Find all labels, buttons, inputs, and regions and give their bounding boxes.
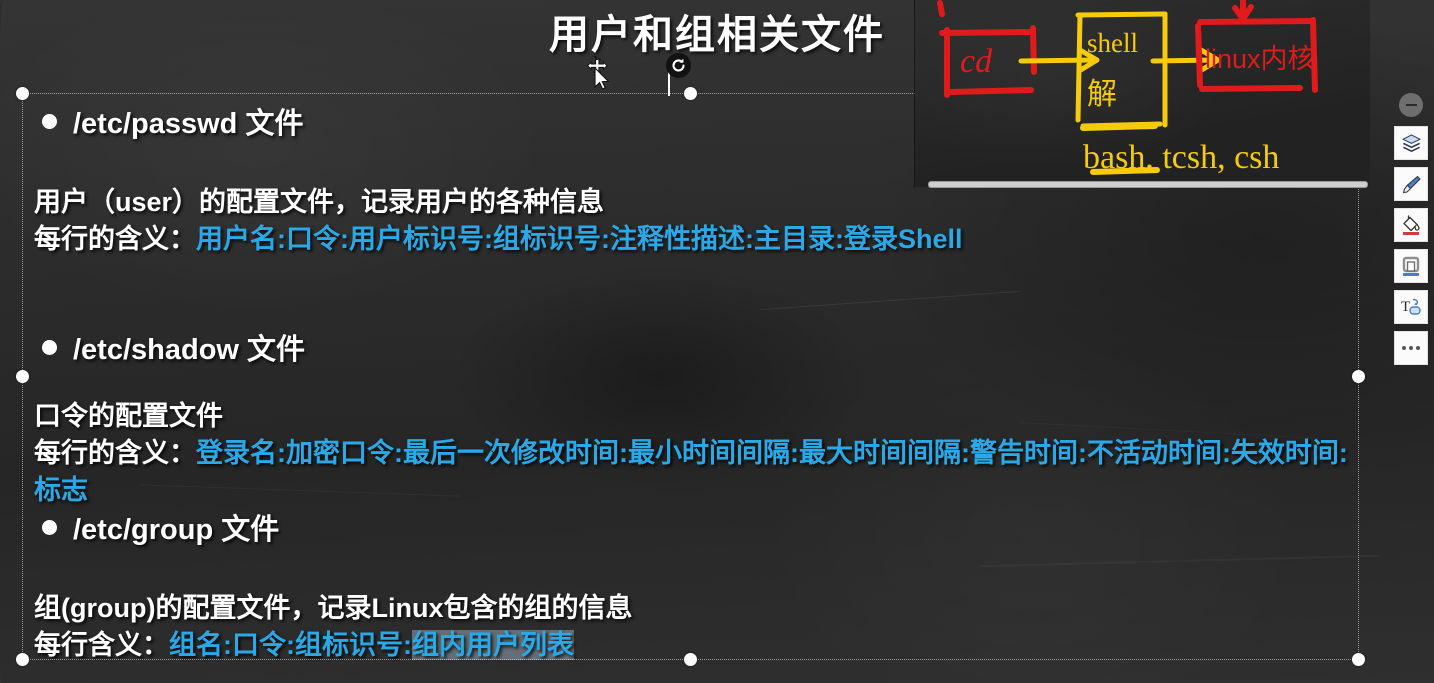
annotation-horizontal-scrollbar[interactable] xyxy=(928,181,1368,188)
annotation-jie-text: 解 xyxy=(1087,78,1117,111)
annotation-cd-text: cd xyxy=(960,43,993,80)
minus-icon xyxy=(1406,104,1417,106)
shape-icon[interactable] xyxy=(1394,249,1428,283)
rotate-handle-icon[interactable] xyxy=(666,53,691,78)
more-icon[interactable] xyxy=(1394,331,1428,365)
dot xyxy=(1416,346,1420,350)
text-icon[interactable]: T xyxy=(1394,290,1428,324)
dot xyxy=(1402,346,1406,350)
brush-icon[interactable] xyxy=(1394,167,1428,201)
resize-handle-middle-right[interactable] xyxy=(1352,370,1365,383)
resize-handle-top-middle[interactable] xyxy=(684,87,697,100)
fill-icon[interactable] xyxy=(1394,208,1428,242)
annotation-overlay-panel[interactable]: cd shell 解 linux内核 xyxy=(915,0,1370,187)
resize-handle-bottom-right[interactable] xyxy=(1352,653,1365,666)
collapse-toolbar-button[interactable] xyxy=(1399,93,1423,117)
annotation-shell-text: shell xyxy=(1087,28,1138,58)
annotation-linux-kernel-text: linux内核 xyxy=(1205,44,1315,74)
handwritten-annotation: cd shell 解 linux内核 xyxy=(915,0,1370,187)
resize-handle-bottom-left[interactable] xyxy=(16,653,29,666)
svg-text:T: T xyxy=(1401,299,1410,315)
layers-icon[interactable] xyxy=(1394,126,1428,160)
dot xyxy=(1409,346,1413,350)
resize-handle-top-left[interactable] xyxy=(16,87,29,100)
annotation-toolbar[interactable]: T xyxy=(1390,93,1432,365)
resize-handle-bottom-middle[interactable] xyxy=(684,653,697,666)
annotation-caption-text: bash, tcsh, csh xyxy=(1083,139,1279,176)
ellipsis-dots xyxy=(1402,346,1420,350)
rotate-handle-stem xyxy=(668,72,670,96)
resize-handle-middle-left[interactable] xyxy=(16,370,29,383)
move-cursor xyxy=(583,55,617,91)
